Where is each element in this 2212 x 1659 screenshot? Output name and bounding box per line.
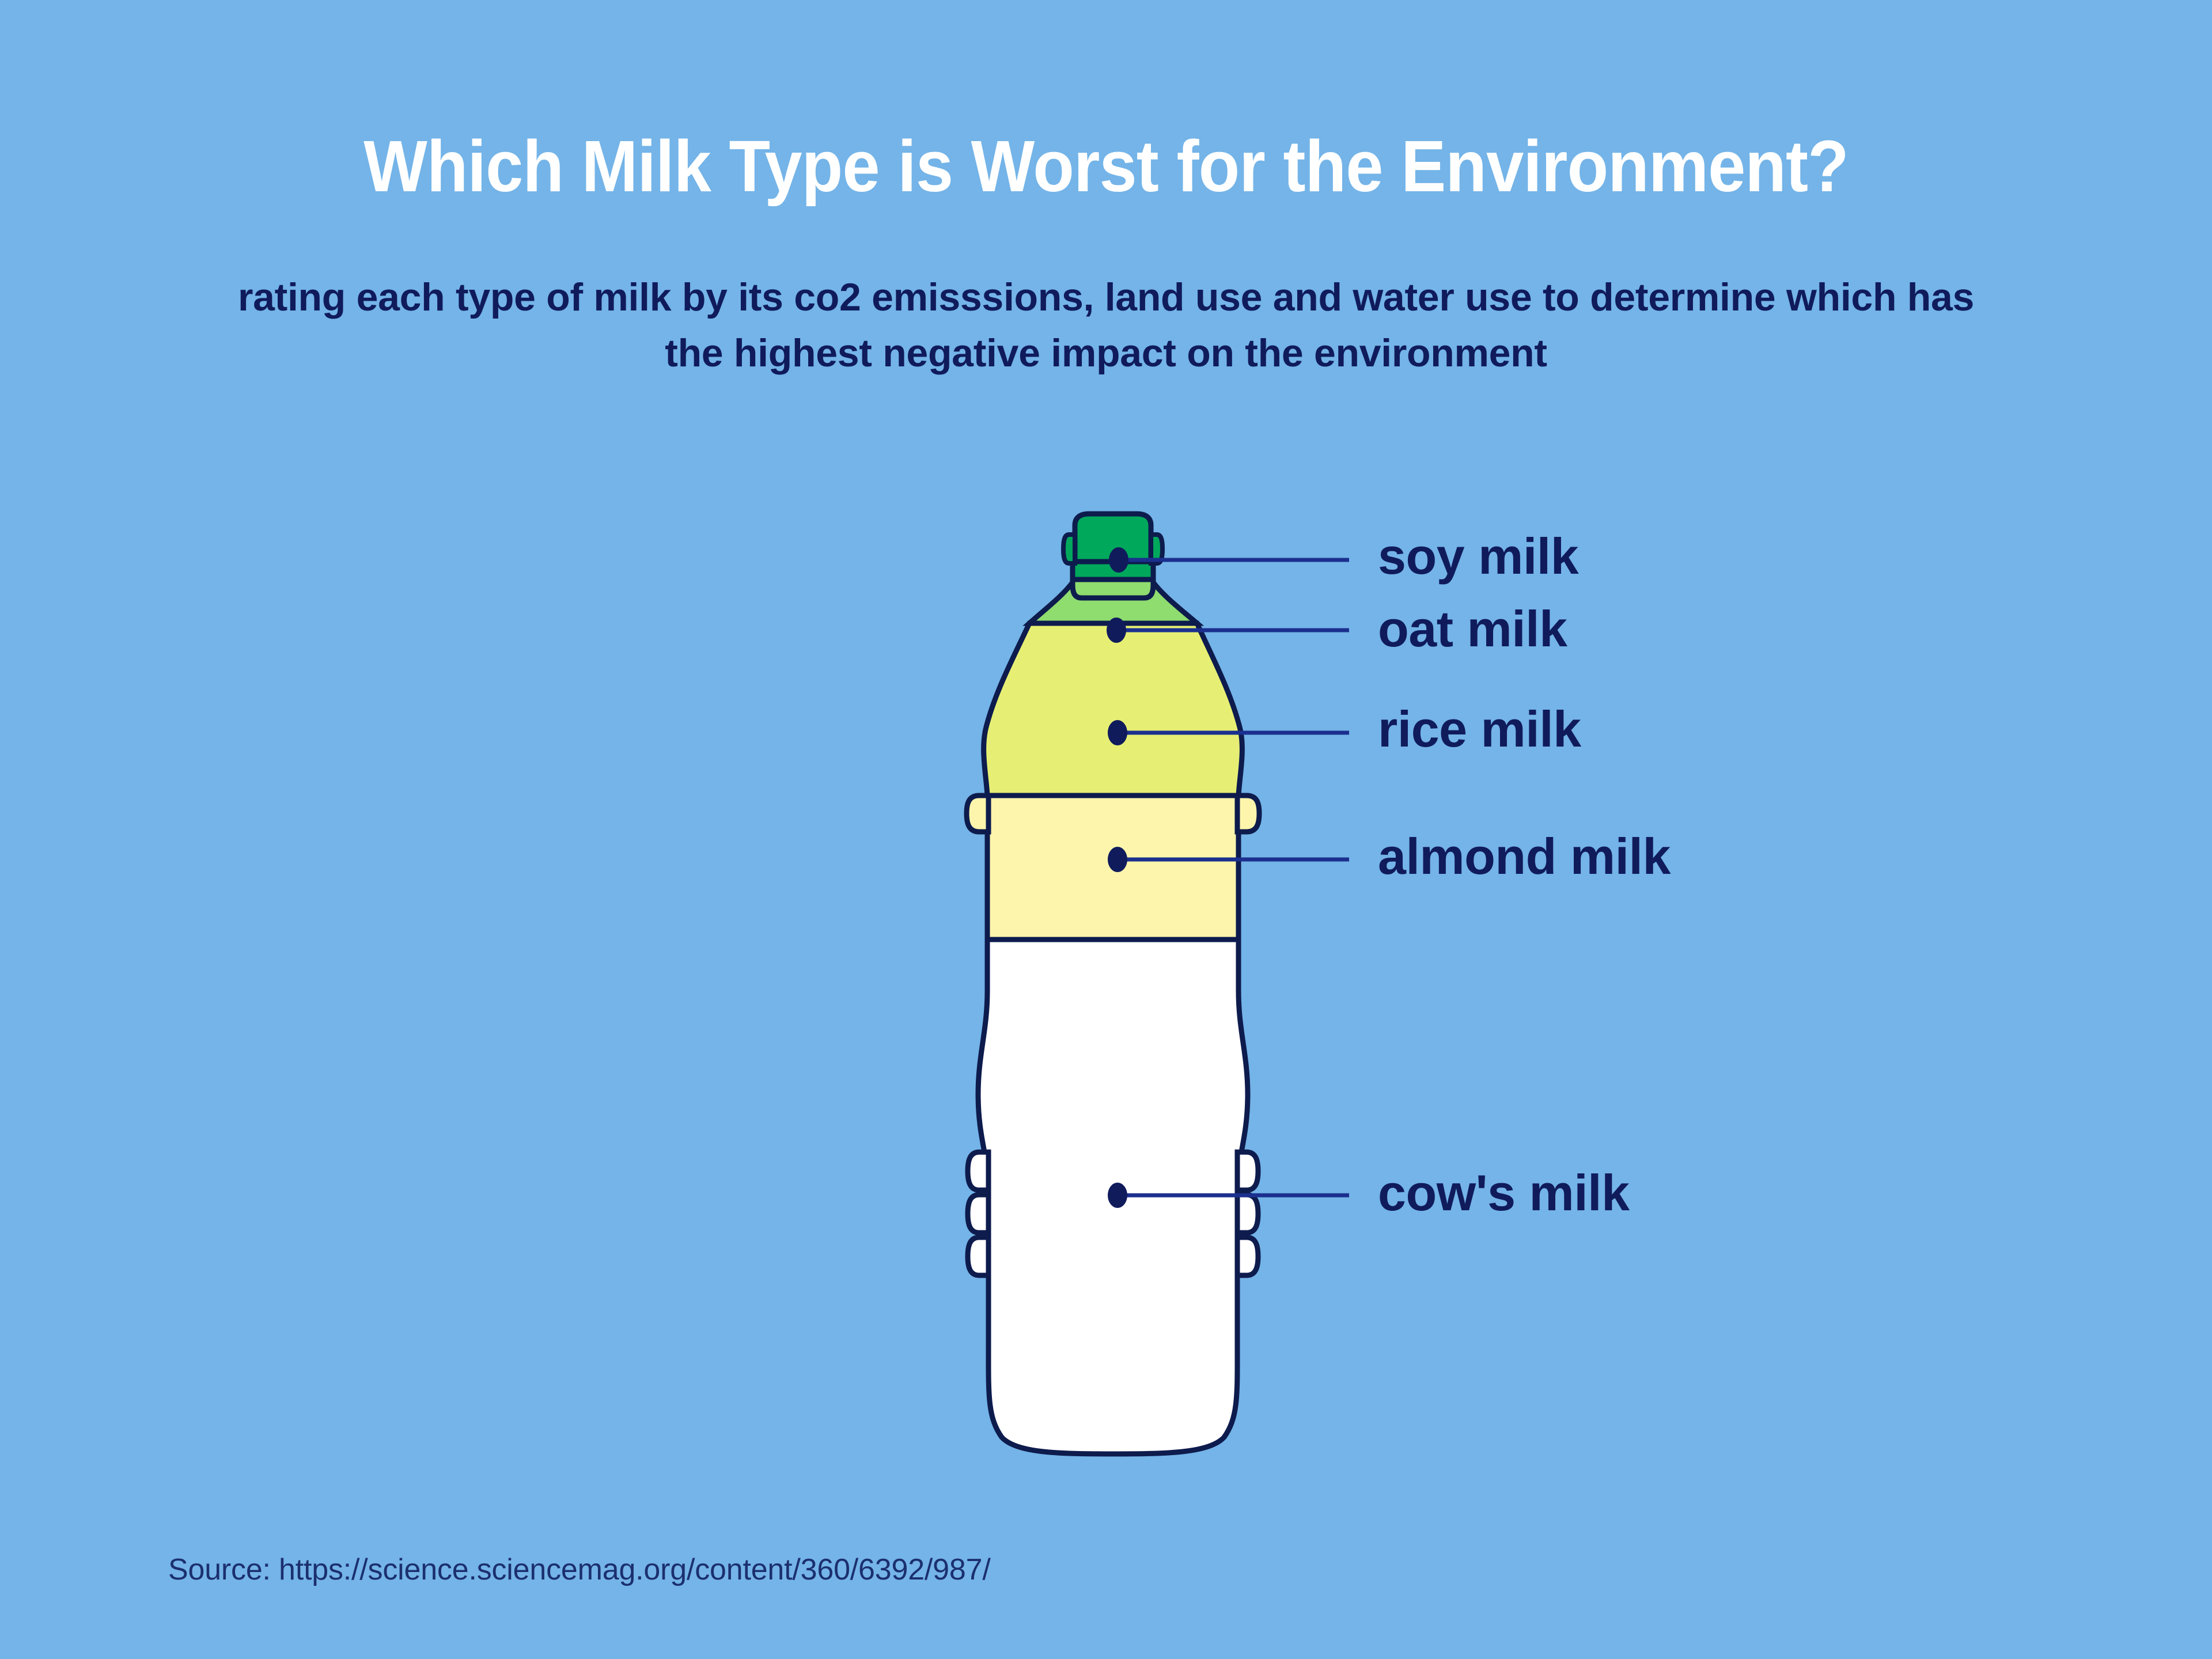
bottle-segment-rice-milk[interactable] bbox=[984, 623, 1243, 796]
infographic-canvas: Which Milk Type is Worst for the Environ… bbox=[0, 0, 2212, 1659]
callout-dot-rice-milk[interactable] bbox=[1108, 720, 1127, 745]
callout-dot-almond-milk[interactable] bbox=[1108, 847, 1127, 872]
bottle-diagram: soy milk oat milk rice milk almond milk … bbox=[0, 0, 2212, 1659]
callout-label-soy-milk[interactable]: soy milk bbox=[1378, 531, 1578, 582]
bottle-grip-ridge-right-2 bbox=[1237, 1195, 1258, 1233]
bottle-cap-ridge-left bbox=[1063, 535, 1075, 563]
bottle-grip-ridge-left-3 bbox=[968, 1237, 988, 1275]
bottle-grip-ridge-left-2 bbox=[968, 1195, 988, 1233]
bottle-grip-ridge-right-1 bbox=[1237, 1152, 1258, 1190]
callout-dot-soy-milk[interactable] bbox=[1109, 547, 1128, 573]
bottle-grip-ridge-right-3 bbox=[1237, 1237, 1258, 1275]
bottle-grip-ridge-left-1 bbox=[968, 1152, 988, 1190]
callout-dot-oat-milk[interactable] bbox=[1107, 618, 1126, 643]
callout-label-almond-milk[interactable]: almond milk bbox=[1378, 831, 1671, 882]
callout-label-cow-milk[interactable]: cow's milk bbox=[1378, 1168, 1630, 1218]
callout-dot-cow-milk[interactable] bbox=[1108, 1183, 1127, 1208]
bottle-shoulder-bulge-right bbox=[1237, 796, 1259, 832]
callout-label-rice-milk[interactable]: rice milk bbox=[1378, 704, 1581, 755]
callout-label-oat-milk[interactable]: oat milk bbox=[1378, 604, 1567, 654]
source-citation[interactable]: Source: https://science.sciencemag.org/c… bbox=[168, 1552, 991, 1587]
bottle-shoulder-bulge-left bbox=[967, 796, 988, 832]
